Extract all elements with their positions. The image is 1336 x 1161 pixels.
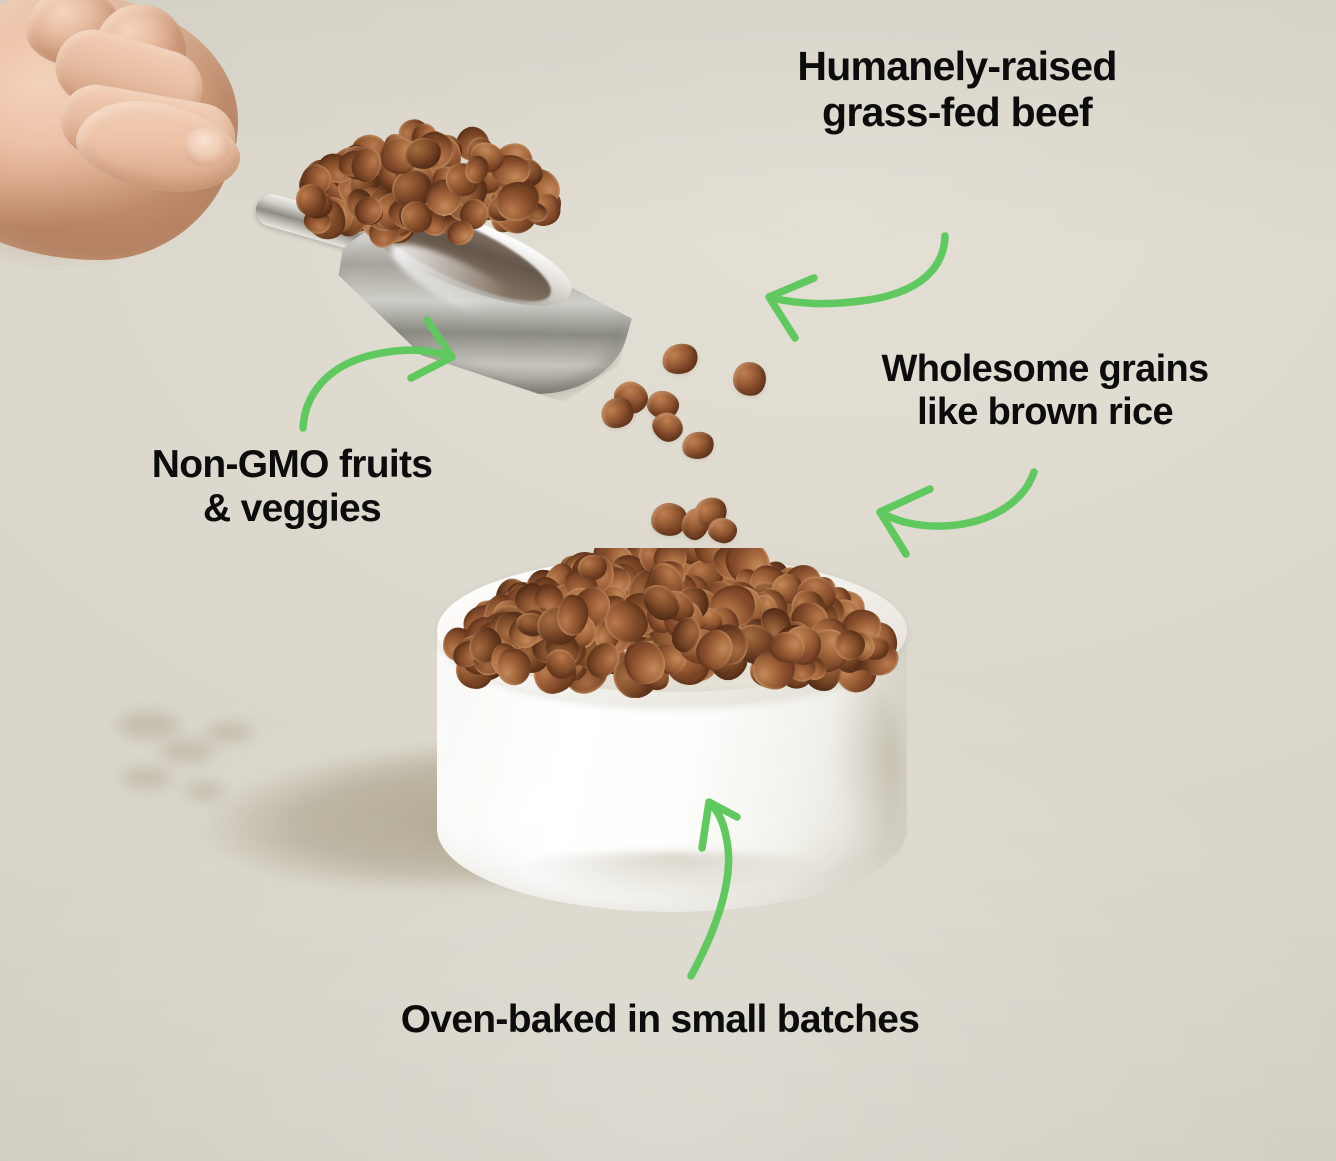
kibble-pile — [443, 548, 901, 698]
bowl-base-shading — [459, 852, 885, 910]
scoop-kibble — [285, 126, 575, 296]
kibble-cast-shadow — [185, 782, 225, 800]
infographic-canvas: Humanely-raised grass-fed beef Wholesome… — [0, 0, 1336, 1161]
label-humanely-raised-beef: Humanely-raised grass-fed beef — [747, 44, 1167, 136]
kibble-cast-shadow — [160, 740, 214, 762]
kibble-cast-shadow — [206, 722, 252, 742]
label-non-gmo-fruits: Non-GMO fruits & veggies — [88, 443, 496, 530]
kibble-cast-shadow — [122, 768, 172, 788]
label-oven-baked: Oven-baked in small batches — [300, 998, 1020, 1042]
kibble-cast-shadow — [118, 712, 180, 738]
label-wholesome-grains: Wholesome grains like brown rice — [820, 348, 1270, 433]
